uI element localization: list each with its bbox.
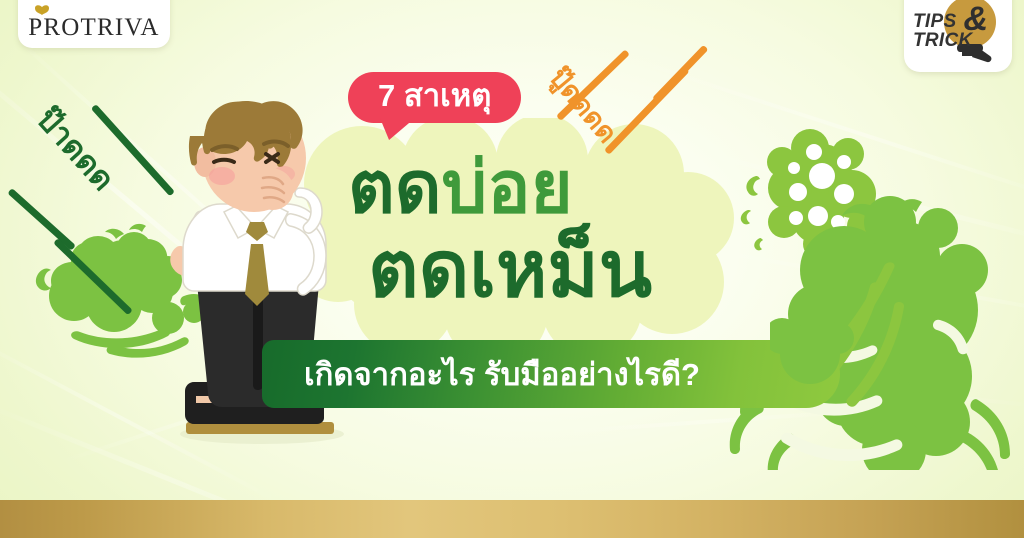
count-badge[interactable]: 7 สาเหตุ: [348, 72, 521, 123]
headline-line-1: ตดบ่อย: [348, 152, 573, 224]
banner-root: ป๊าดดด ปู๊ดดดด: [0, 0, 1024, 538]
brand-logo-text: PROTRIVA: [28, 15, 159, 40]
shout-text-left: ป๊าดดด: [25, 96, 127, 202]
headline-line-1-part-2: บ่อย: [442, 148, 573, 228]
headline-line-2: ตดเหม็น: [368, 230, 652, 308]
count-badge-tail: [376, 118, 415, 140]
subtitle-bar: เกิดจากอะไร รับมืออย่างไรดี?: [262, 340, 840, 408]
gas-puff-right-icon: [738, 118, 898, 268]
brand-logo[interactable]: PROTRIVA: [18, 0, 170, 48]
speed-line-right-3: [652, 45, 708, 103]
tips-trick-badge[interactable]: & TIPS TRICK: [904, 0, 1012, 72]
speed-line-left-3: [53, 238, 133, 315]
leaf-icon: [34, 4, 50, 16]
speed-line-left-1: [7, 188, 76, 251]
subtitle-label: เกิดจากอะไร รับมืออย่างไรดี?: [304, 349, 700, 399]
count-badge-label: 7 สาเหตุ: [378, 79, 491, 113]
gas-cloud-right-icon: [726, 150, 1024, 470]
bottom-gold-bar: [0, 500, 1024, 538]
headline-line-1-part-1: ตด: [348, 148, 442, 228]
tips-trick-ampersand: &: [963, 0, 988, 39]
